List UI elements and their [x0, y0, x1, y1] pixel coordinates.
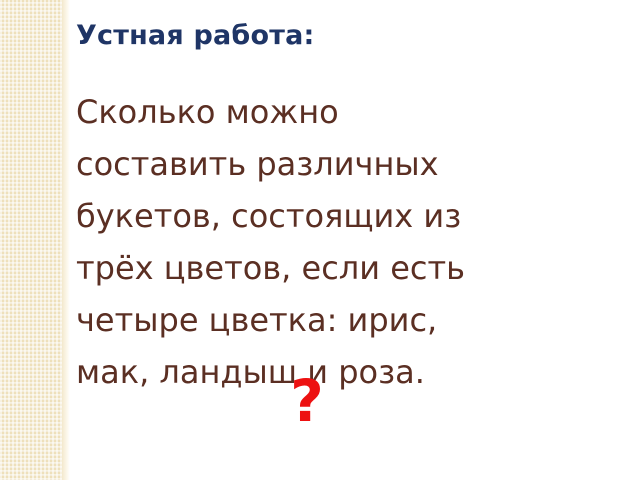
- slide-canvas: Устная работа: Сколько можно составить р…: [0, 0, 640, 480]
- problem-text-line: трёх цветов, если есть: [76, 242, 622, 294]
- page-title: Устная работа:: [76, 19, 616, 53]
- problem-text-line: четыре цветка: ирис,: [76, 294, 622, 346]
- problem-text: Сколько можно составить различных букето…: [76, 86, 622, 398]
- decorative-texture-band: [0, 0, 62, 480]
- problem-text-line: мак, ландыш и роза.: [76, 346, 622, 398]
- problem-text-line: Сколько можно: [76, 86, 622, 138]
- problem-text-line: букетов, состоящих из: [76, 190, 622, 242]
- question-mark-symbol: ?: [282, 372, 332, 430]
- decorative-band-edge: [62, 0, 70, 480]
- problem-text-line: составить различных: [76, 138, 622, 190]
